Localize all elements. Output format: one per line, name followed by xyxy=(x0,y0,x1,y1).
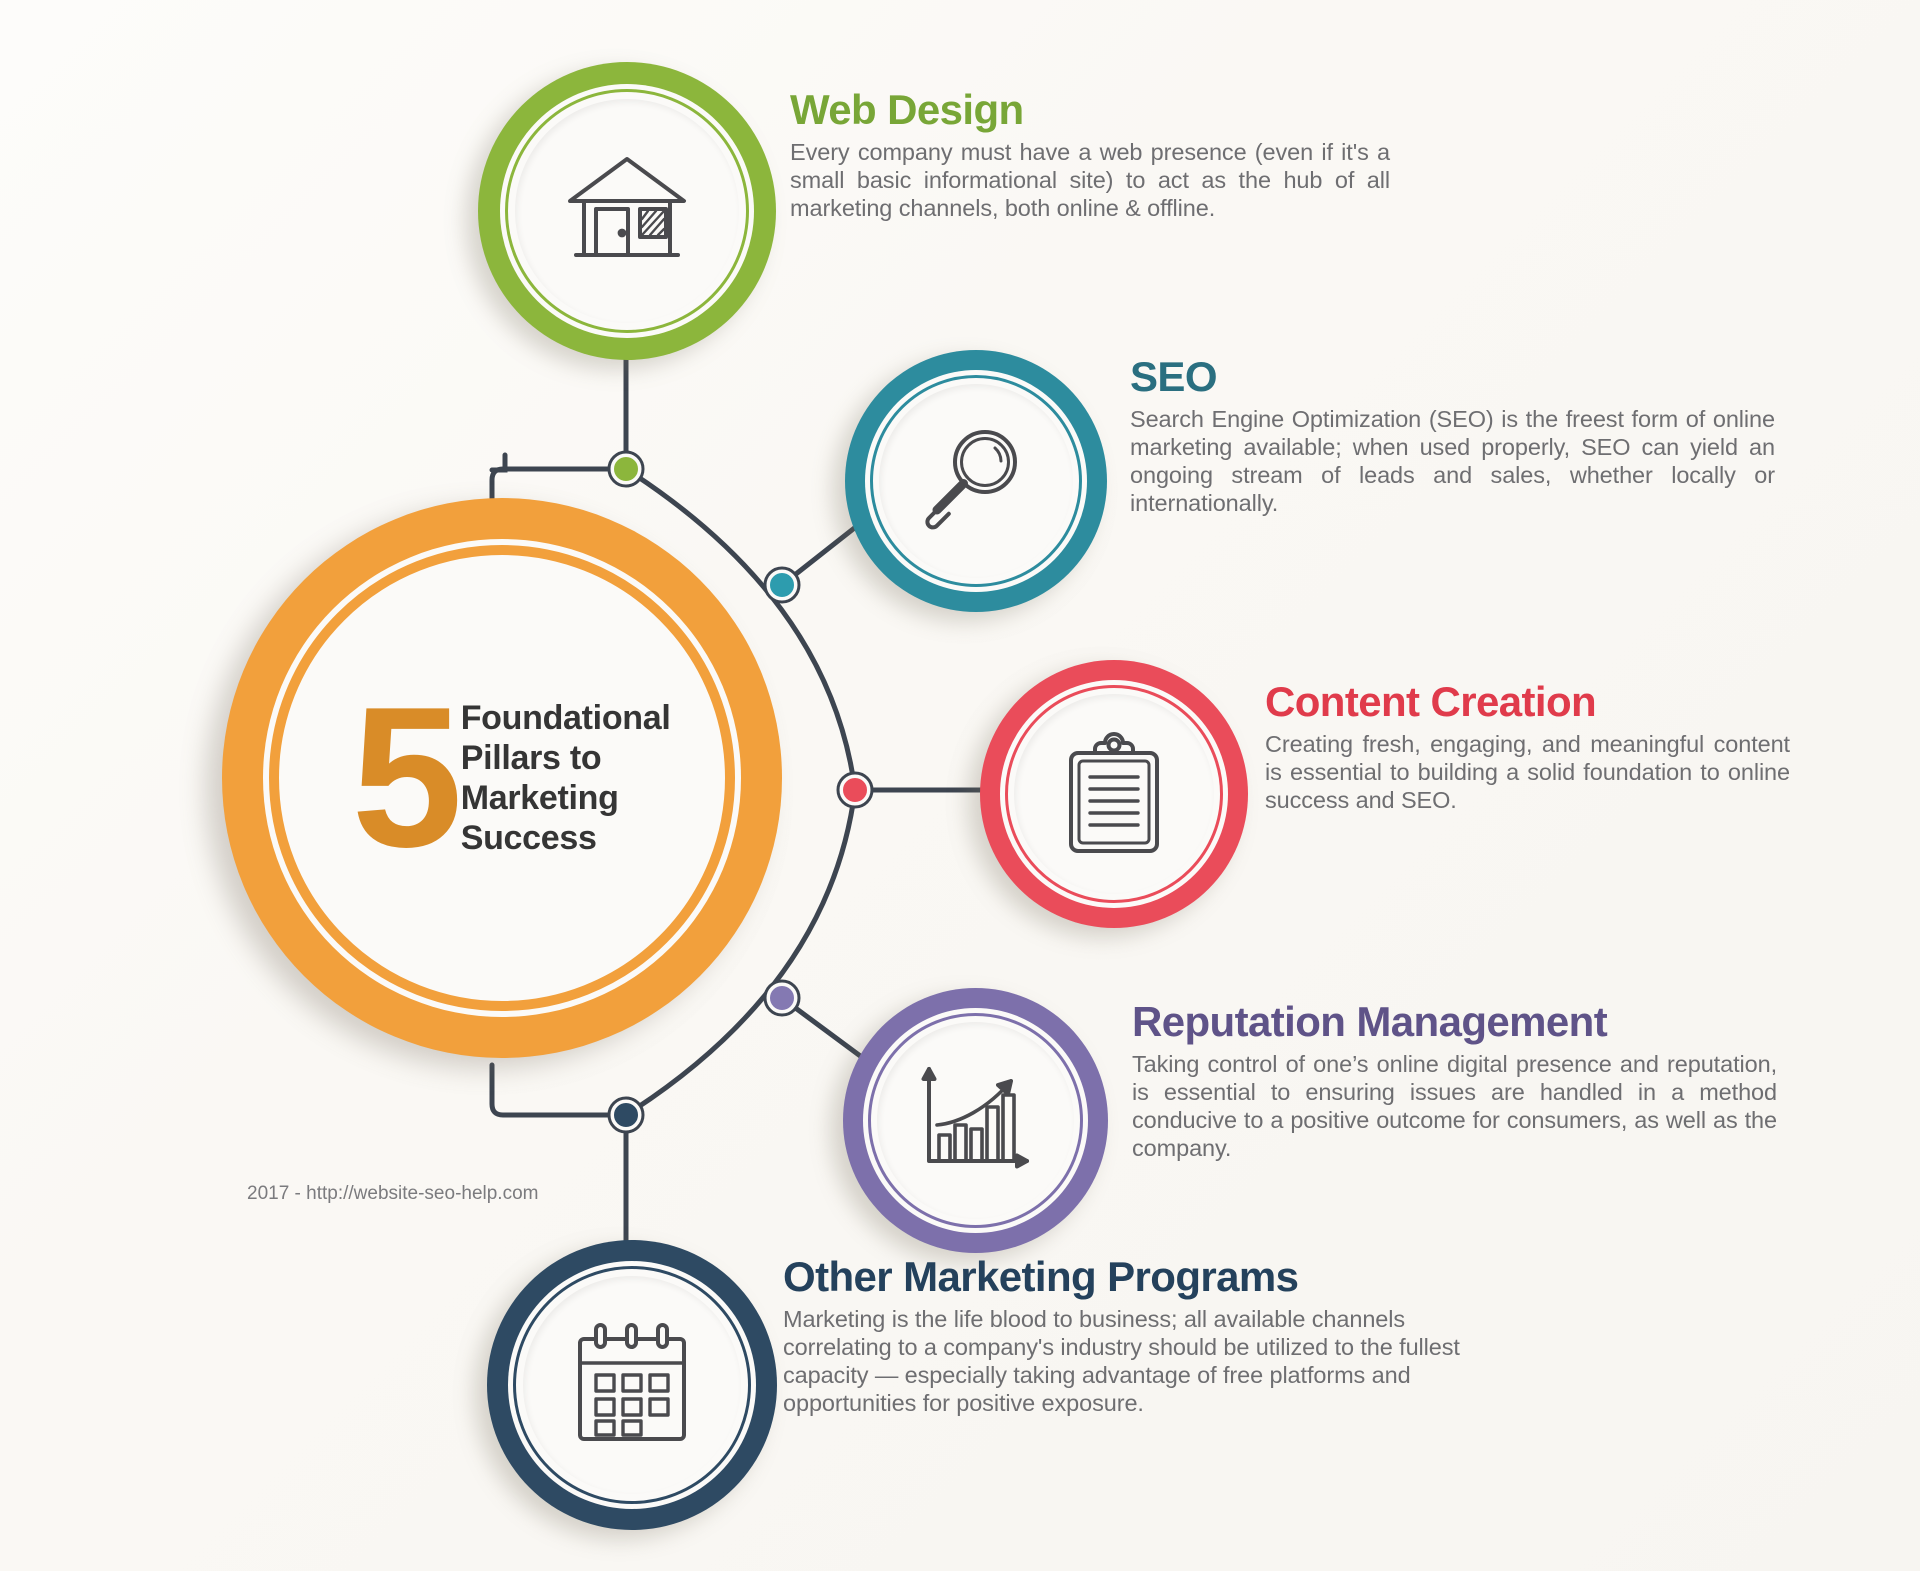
node-dot-content-creation xyxy=(841,776,869,804)
node-dot-reputation xyxy=(768,984,796,1012)
node-dot-other-marketing xyxy=(612,1101,640,1129)
node-dot-seo xyxy=(768,571,796,599)
infographic-canvas: 5 Foundational Pillars to Marketing Succ… xyxy=(0,0,1920,1571)
connector-nodes xyxy=(0,0,1920,1571)
node-dot-web-design xyxy=(612,455,640,483)
footer-attribution: 2017 - http://website-seo-help.com xyxy=(247,1183,539,1205)
